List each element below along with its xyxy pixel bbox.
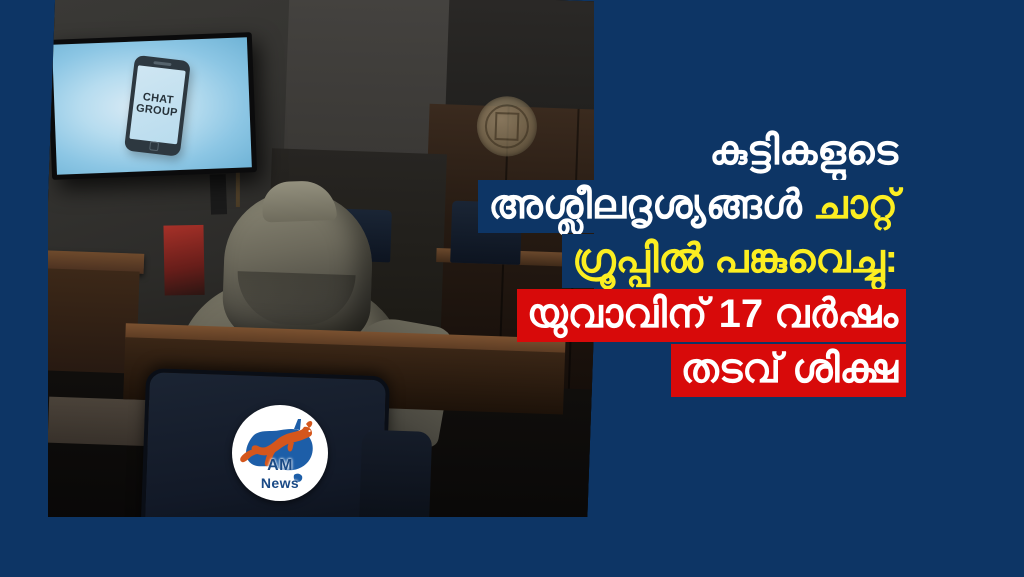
- phone-screen: CHAT GROUP: [130, 65, 186, 144]
- left-blue-panel: [0, 0, 48, 577]
- am-news-logo[interactable]: AM News: [232, 405, 328, 501]
- bottom-blue-panel: [0, 517, 1024, 577]
- logo-text-news: News: [232, 475, 328, 491]
- flag-cloth: [163, 225, 204, 296]
- phone-caption: CHAT GROUP: [133, 90, 184, 120]
- tv-mount-arm: [210, 174, 227, 215]
- court-seal-core: [494, 112, 519, 141]
- phone-home-button-icon: [149, 141, 159, 151]
- phone-speaker-icon: [154, 61, 172, 66]
- wall-television: CHAT GROUP: [47, 32, 257, 180]
- right-blue-panel: [594, 0, 1024, 577]
- news-card: CHAT GROUP: [0, 0, 1024, 577]
- smartphone-icon: CHAT GROUP: [124, 55, 191, 157]
- tv-screen: CHAT GROUP: [52, 37, 252, 174]
- background-chair: [450, 201, 522, 265]
- logo-text-am: AM: [232, 457, 328, 475]
